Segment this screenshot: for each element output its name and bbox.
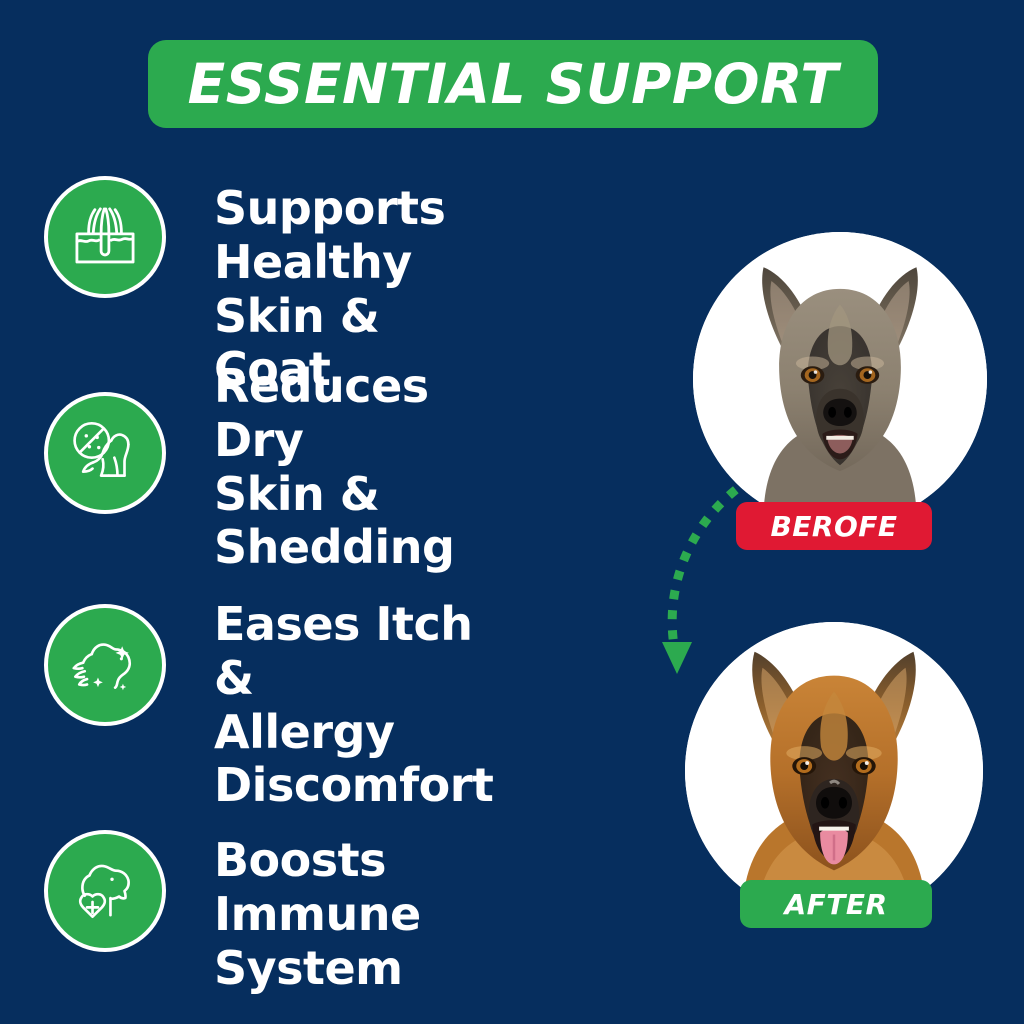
- before-after-comparison: BEROFE: [640, 180, 1024, 980]
- german-shepherd-dull-coat-image: [693, 232, 987, 526]
- benefits-list: Supports Healthy Skin & Coat: [0, 0, 700, 1024]
- after-photo: [685, 622, 983, 920]
- before-badge: BEROFE: [736, 502, 932, 550]
- benefit-label-dry-skin-shedding: Reduces Dry Skin & Shedding: [214, 360, 454, 575]
- benefit-label-immune-system: Boosts Immune System: [214, 834, 421, 995]
- after-badge: AFTER: [740, 880, 932, 928]
- after-badge-label: AFTER: [784, 888, 887, 921]
- before-photo: [693, 232, 987, 526]
- german-shepherd-vibrant-coat-image: [685, 622, 983, 920]
- infographic-canvas: ESSENTIAL SUPPORT Supports Heal: [0, 0, 1024, 1024]
- benefit-label-itch-allergy: Eases Itch & Allergy Discomfort: [214, 598, 493, 813]
- no-dry-skin-dog-icon: [44, 392, 166, 514]
- sparkling-dog-head-icon: [44, 604, 166, 726]
- dog-heart-health-icon: [44, 830, 166, 952]
- before-badge-label: BEROFE: [770, 510, 897, 543]
- hair-follicle-skin-icon: [44, 176, 166, 298]
